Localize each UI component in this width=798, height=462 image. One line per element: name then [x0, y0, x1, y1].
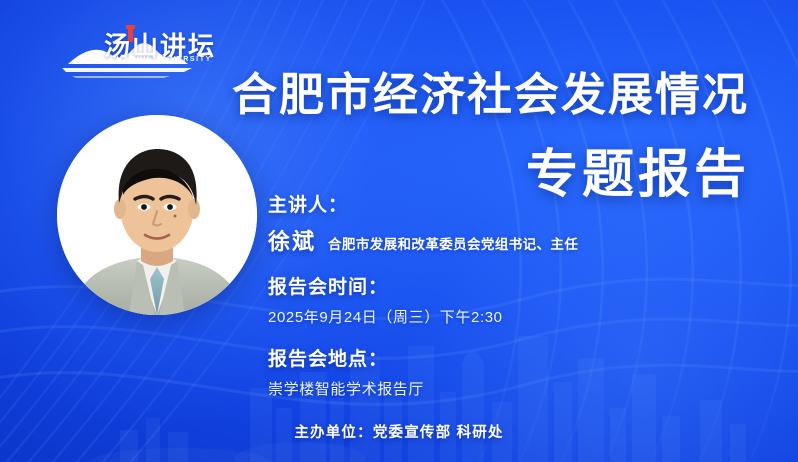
venue-label: 报告会地点： — [268, 344, 738, 371]
organizer-line: 主办单位：党委宣传部 科研处 — [0, 421, 798, 442]
speaker-portrait — [57, 115, 257, 315]
speaker-title: 合肥市发展和改革委员会党组书记、主任 — [328, 233, 578, 253]
event-details: 主讲人： 徐斌 合肥市发展和改革委员会党组书记、主任 报告会时间： 2025年9… — [268, 190, 738, 416]
time-label: 报告会时间： — [268, 272, 738, 299]
speaker-name: 徐斌 — [268, 224, 316, 256]
venue-value: 崇学楼智能学术报告厅 — [268, 378, 738, 399]
logo-name-en: CHAOHU UNIVERSITY — [110, 56, 212, 63]
poster-title-line1: 合肥市经济社会发展情况 — [232, 58, 749, 123]
speaker-label: 主讲人： — [268, 190, 738, 217]
speaker-row: 徐斌 合肥市发展和改革委员会党组书记、主任 — [268, 224, 738, 256]
event-poster: 汤山讲坛 CHAOHU UNIVERSITY 合肥市经济社会发展情况 专题报告 — [0, 0, 798, 462]
time-value: 2025年9月24日（周三）下午2:30 — [268, 306, 738, 327]
